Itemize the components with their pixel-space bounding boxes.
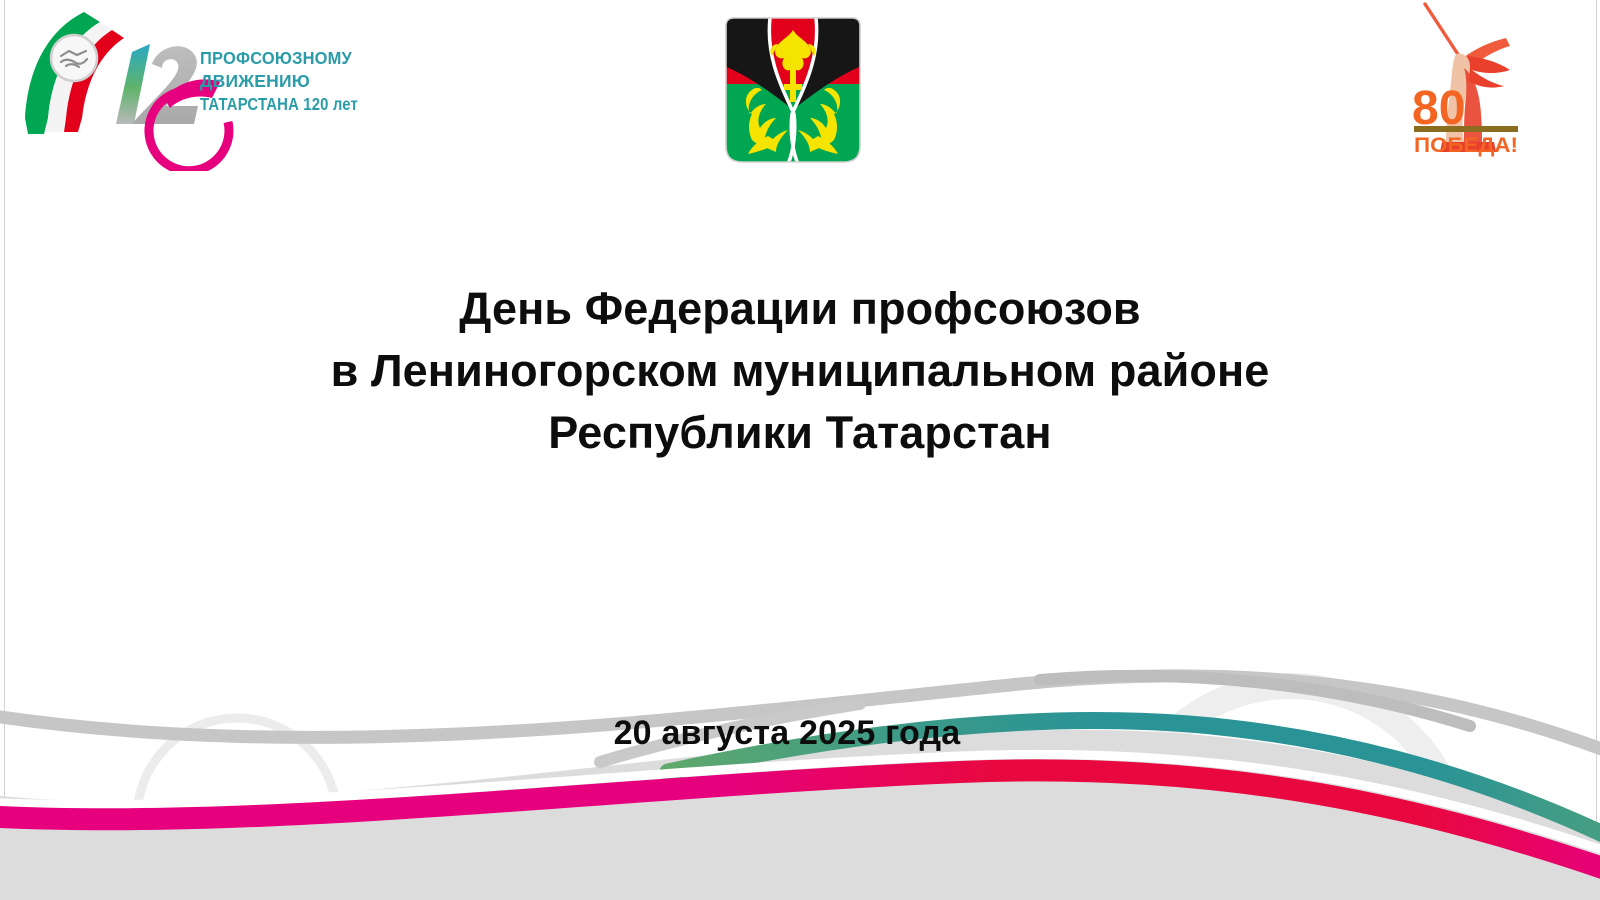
title-line-2: в Лениногорском муниципальном районе xyxy=(0,340,1600,402)
logo-text-line-1: ПРОФСОЮЗНОМУ xyxy=(200,48,353,68)
decor-pink-ribbon xyxy=(0,770,1600,874)
decor-circle-right-small xyxy=(1057,747,1323,900)
slide-title: День Федерации профсоюзов в Лениногорско… xyxy=(0,278,1600,464)
statue-sword xyxy=(1425,4,1463,62)
logo-text-line-3: ТАТАРСТАНА 120 лет xyxy=(200,94,358,114)
date-text: 20 августа 2025 года xyxy=(614,714,961,753)
slide-date: 20 августа 2025 года xyxy=(0,714,1600,753)
decor-white-gap xyxy=(0,754,1600,856)
victory-number: 80 xyxy=(1412,82,1465,135)
handshake-emblem-circle xyxy=(51,35,97,81)
coat-of-arms-leninogorsk xyxy=(718,14,868,174)
decor-gray-fill xyxy=(0,730,1600,900)
presentation-slide: ПРОФСОЮЗНОМУ ДВИЖЕНИЮ ТАТАРСТАНА 120 лет xyxy=(0,0,1600,900)
logo-120-anniversary: ПРОФСОЮЗНОМУ ДВИЖЕНИЮ ТАТАРСТАНА 120 лет xyxy=(14,6,364,171)
logo-text-line-2: ДВИЖЕНИЮ xyxy=(200,71,310,91)
title-line-1: День Федерации профсоюзов xyxy=(0,278,1600,340)
title-line-3: Республики Татарстан xyxy=(0,402,1600,464)
logo-80-victory: 80 ПОБЕДА! xyxy=(1390,0,1550,170)
victory-caption: ПОБЕДА! xyxy=(1414,134,1518,157)
